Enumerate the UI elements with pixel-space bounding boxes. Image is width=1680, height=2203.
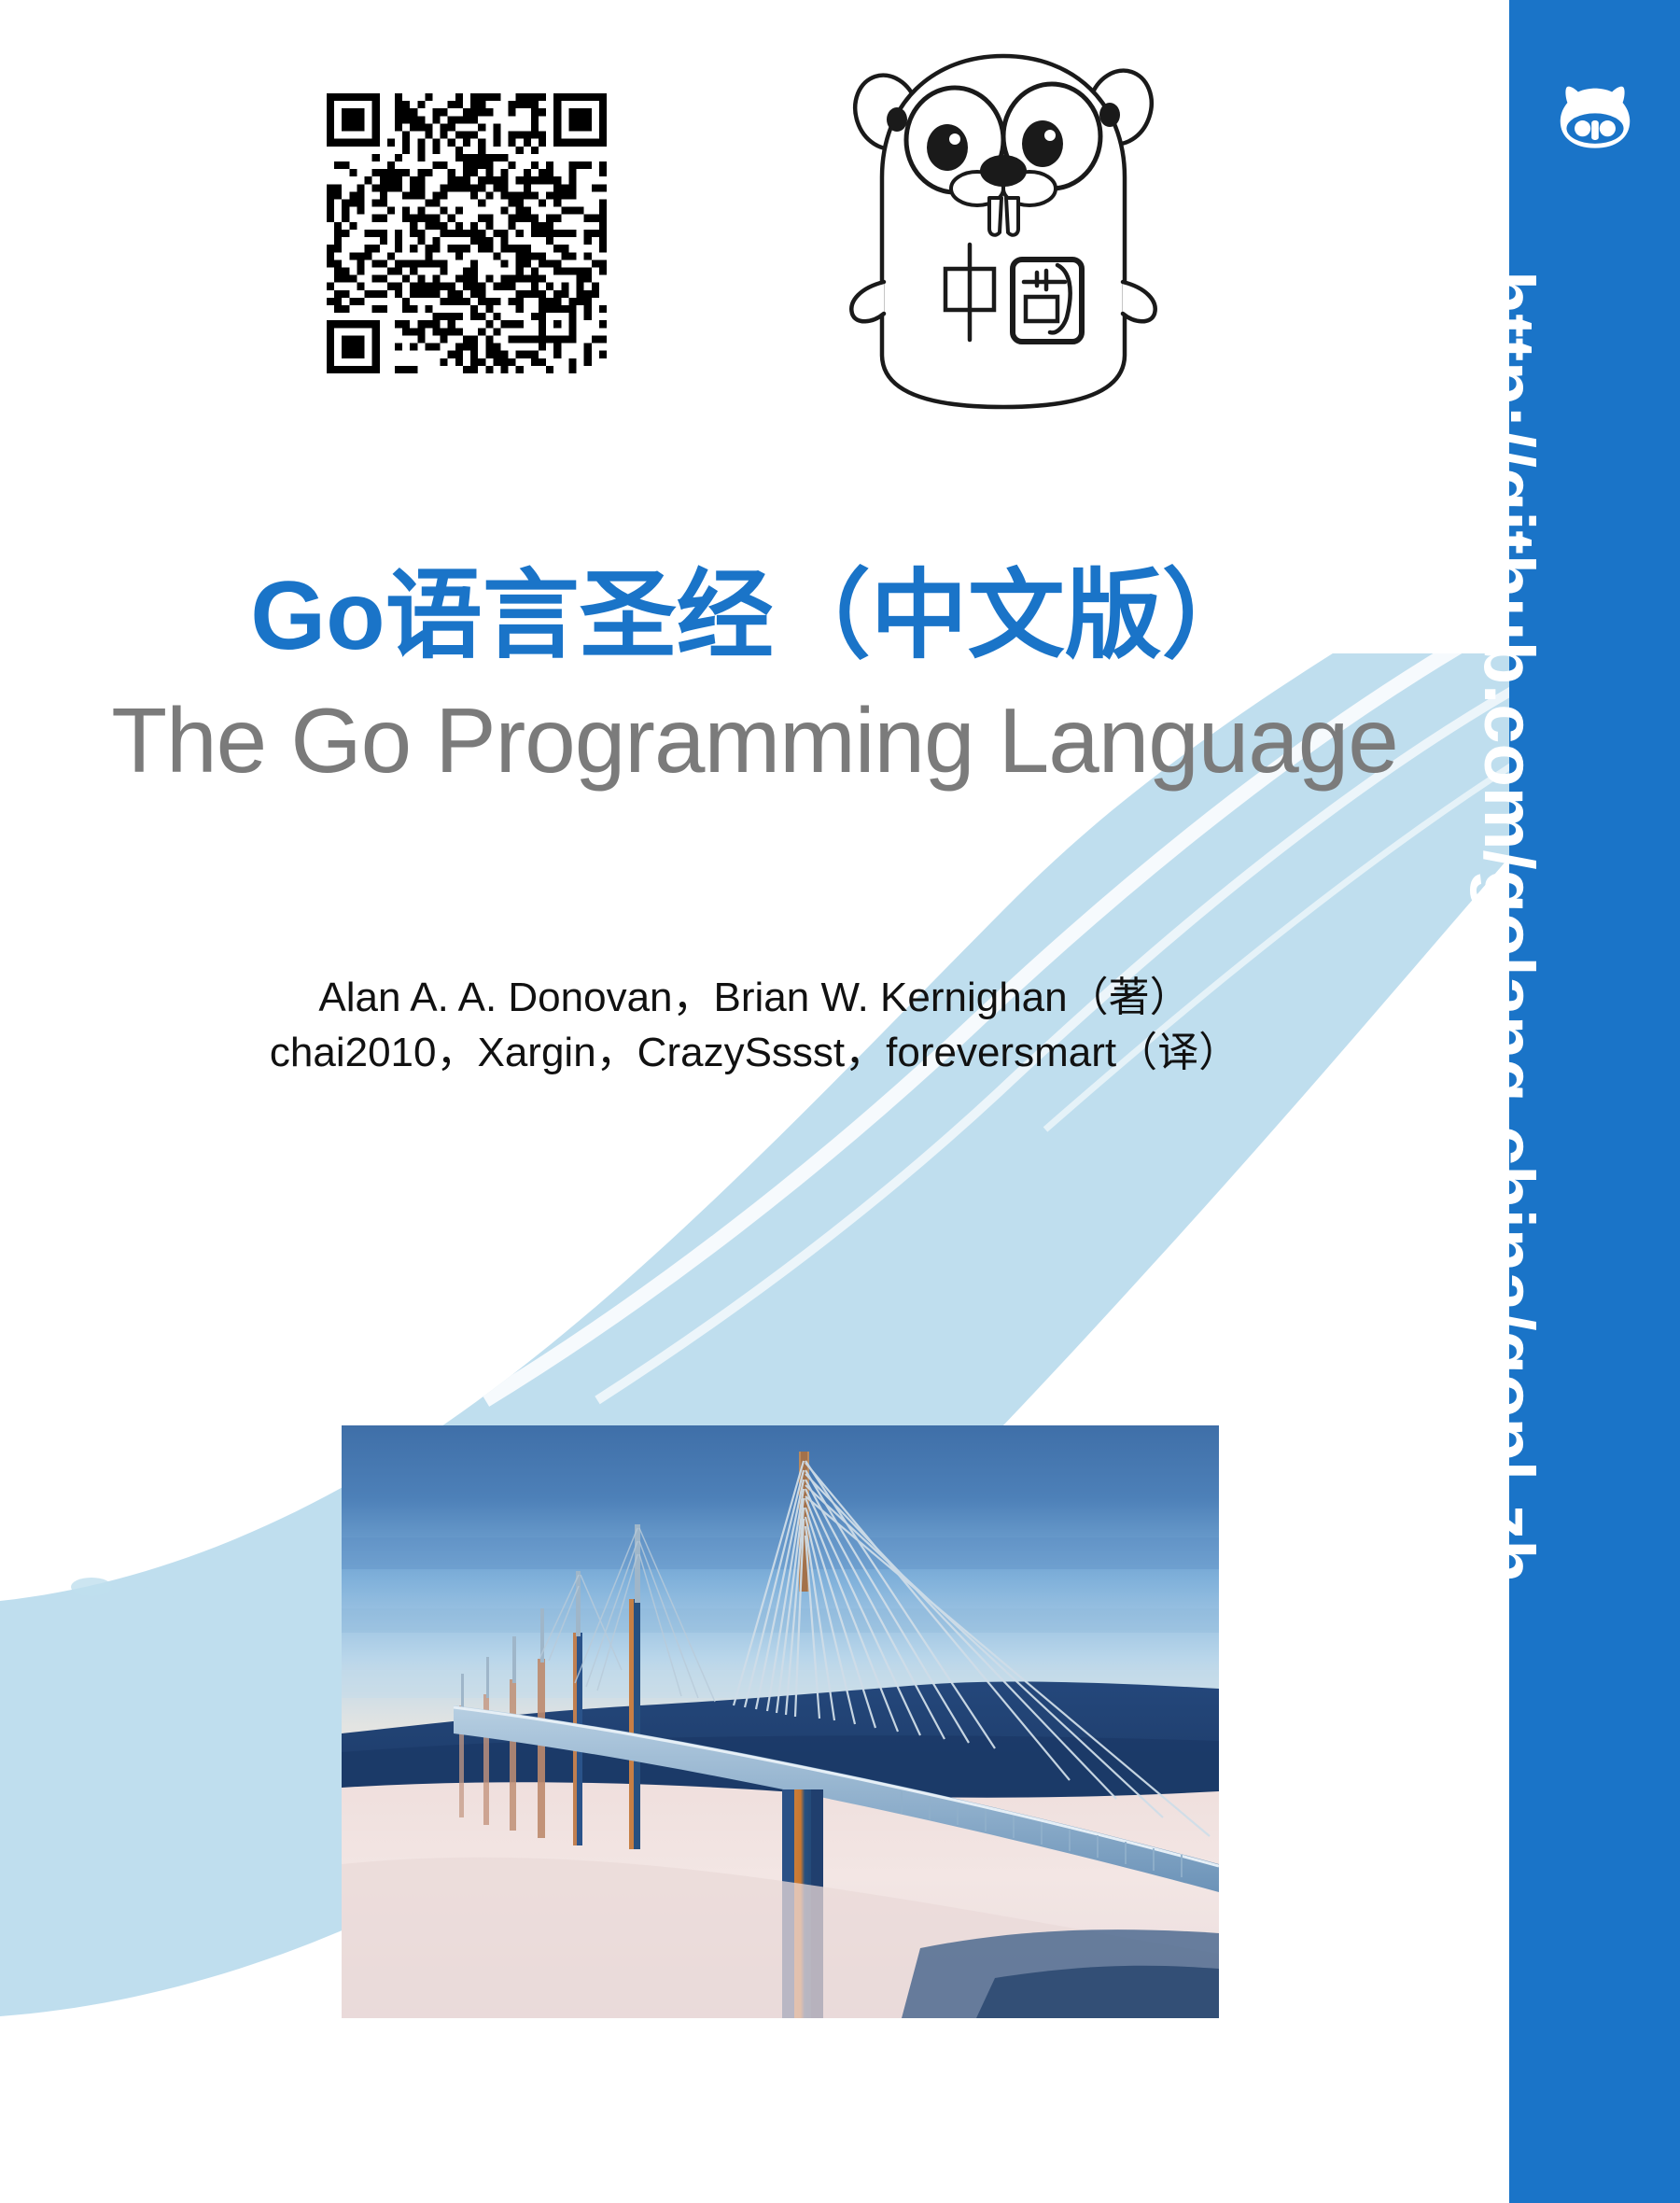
authors-line-original: Alan A. A. Donovan，Brian W. Kernighan（著） — [0, 971, 1509, 1026]
github-url-text[interactable]: http://github.com/golang-china/gopl-zh — [1423, 271, 1594, 2138]
book-cover: Go语言圣经（中文版） The Go Programming Language … — [0, 0, 1680, 2203]
qr-code-canvas — [327, 93, 607, 373]
book-title-english: The Go Programming Language — [0, 691, 1509, 792]
millau-viaduct-bridge-photo — [342, 1425, 1219, 2018]
authors-block: Alan A. A. Donovan，Brian W. Kernighan（著）… — [0, 971, 1509, 1081]
book-title-chinese: Go语言圣经（中文版） — [0, 564, 1509, 668]
github-octocat-icon[interactable] — [1550, 82, 1640, 161]
sidebar-url-rotated: http://github.com/golang-china/gopl-zh — [1423, 271, 1594, 2138]
authors-line-translators: chai2010，Xargin，CrazySssst，foreversmart（… — [0, 1026, 1509, 1081]
go-gopher-mascot — [845, 37, 1162, 411]
sidebar-github-banner: http://github.com/golang-china/gopl-zh — [1509, 0, 1680, 2203]
qr-code[interactable] — [327, 93, 607, 373]
